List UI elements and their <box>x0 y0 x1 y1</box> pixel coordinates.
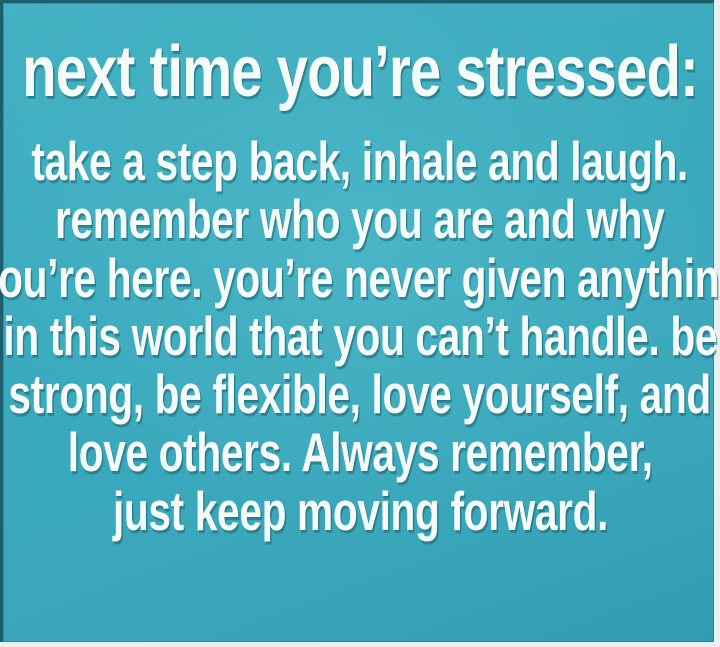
quote-body-line: just keep moving forward. <box>112 482 607 540</box>
quote-poster: next time you’re stressed: take a step b… <box>0 0 720 647</box>
quote-body-line: love others. Always remember, <box>68 423 653 481</box>
quote-body-line: in this world that you can’t handle. be <box>3 307 717 365</box>
quote-headline: next time you’re stressed: <box>22 36 698 108</box>
quote-body-line: take a step back, inhale and laugh. <box>32 132 689 190</box>
quote-body: take a step back, inhale and laugh. reme… <box>0 132 720 540</box>
quote-body-line: you’re here. you’re never given anything <box>0 249 720 307</box>
poster-content: next time you’re stressed: take a step b… <box>0 0 720 647</box>
quote-body-line: remember who you are and why <box>55 190 664 248</box>
quote-body-line: strong, be flexible, love yourself, and <box>9 365 712 423</box>
